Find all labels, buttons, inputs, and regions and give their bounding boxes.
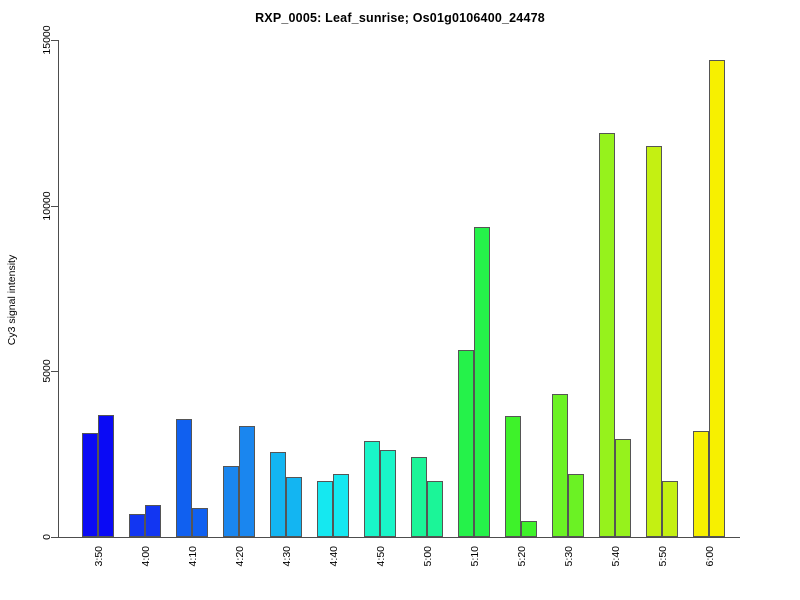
bar-group-4-40 — [317, 40, 349, 537]
x-tick-label-4-00: 4:00 — [140, 546, 152, 566]
x-tick-label-5-50: 5:50 — [657, 546, 669, 566]
plot-area — [58, 40, 800, 537]
bar-5-20-2[interactable] — [521, 521, 537, 537]
bar-5-10-2[interactable] — [474, 227, 490, 537]
bar-5-40-2[interactable] — [615, 439, 631, 537]
bar-4-10-1[interactable] — [176, 419, 192, 537]
bar-5-00-1[interactable] — [411, 457, 427, 538]
bar-5-40-1[interactable] — [599, 133, 615, 537]
bar-6-00-2[interactable] — [709, 60, 725, 537]
bar-group-4-20 — [223, 40, 255, 537]
bar-5-50-2[interactable] — [662, 481, 678, 537]
bar-4-10-2[interactable] — [192, 508, 208, 537]
bar-4-20-2[interactable] — [239, 426, 255, 537]
x-tick-label-4-50: 4:50 — [375, 546, 387, 566]
bar-chart: RXP_0005: Leaf_sunrise; Os01g0106400_244… — [0, 0, 800, 600]
x-tick-label-5-20: 5:20 — [516, 546, 528, 566]
bar-4-30-2[interactable] — [286, 477, 302, 537]
bar-5-10-1[interactable] — [458, 350, 474, 537]
x-tick-label-4-30: 4:30 — [281, 546, 293, 566]
bar-group-5-50 — [646, 40, 678, 537]
bar-group-3-50 — [82, 40, 114, 537]
bar-4-30-1[interactable] — [270, 452, 286, 537]
bar-group-4-50 — [364, 40, 396, 537]
x-axis-line — [58, 537, 740, 538]
bar-4-00-2[interactable] — [145, 505, 161, 537]
x-tick-label-5-40: 5:40 — [610, 546, 622, 566]
bar-4-40-1[interactable] — [317, 481, 333, 537]
bar-4-00-1[interactable] — [129, 514, 145, 537]
bar-6-00-1[interactable] — [693, 431, 709, 537]
bar-3-50-1[interactable] — [82, 433, 98, 537]
y-tick-label-15000: 15000 — [41, 25, 53, 54]
bar-group-5-10 — [458, 40, 490, 537]
x-tick-label-5-00: 5:00 — [422, 546, 434, 566]
bar-group-5-00 — [411, 40, 443, 537]
y-tick-label-0: 0 — [41, 534, 53, 540]
x-tick-label-4-10: 4:10 — [187, 546, 199, 566]
x-tick-label-4-20: 4:20 — [234, 546, 246, 566]
bar-5-20-1[interactable] — [505, 416, 521, 537]
bar-group-6-00 — [693, 40, 725, 537]
bar-group-5-30 — [552, 40, 584, 537]
bar-4-20-1[interactable] — [223, 466, 239, 537]
bar-3-50-2[interactable] — [98, 415, 114, 537]
chart-title: RXP_0005: Leaf_sunrise; Os01g0106400_244… — [0, 11, 800, 25]
bar-5-30-1[interactable] — [552, 394, 568, 537]
x-tick-label-5-10: 5:10 — [469, 546, 481, 566]
y-tick-label-5000: 5000 — [41, 360, 53, 383]
bar-group-4-30 — [270, 40, 302, 537]
y-axis-title: Cy3 signal intensity — [6, 255, 18, 345]
bar-group-4-00 — [129, 40, 161, 537]
bar-group-5-40 — [599, 40, 631, 537]
y-tick-label-10000: 10000 — [41, 191, 53, 220]
x-tick-label-6-00: 6:00 — [704, 546, 716, 566]
bar-5-30-2[interactable] — [568, 474, 584, 537]
bar-group-5-20 — [505, 40, 537, 537]
bar-5-00-2[interactable] — [427, 481, 443, 537]
bar-4-50-2[interactable] — [380, 450, 396, 537]
x-tick-label-4-40: 4:40 — [328, 546, 340, 566]
bar-4-40-2[interactable] — [333, 474, 349, 537]
bar-4-50-1[interactable] — [364, 441, 380, 537]
x-tick-label-5-30: 5:30 — [563, 546, 575, 566]
x-tick-label-3-50: 3:50 — [93, 546, 105, 566]
bar-5-50-1[interactable] — [646, 146, 662, 537]
bar-group-4-10 — [176, 40, 208, 537]
